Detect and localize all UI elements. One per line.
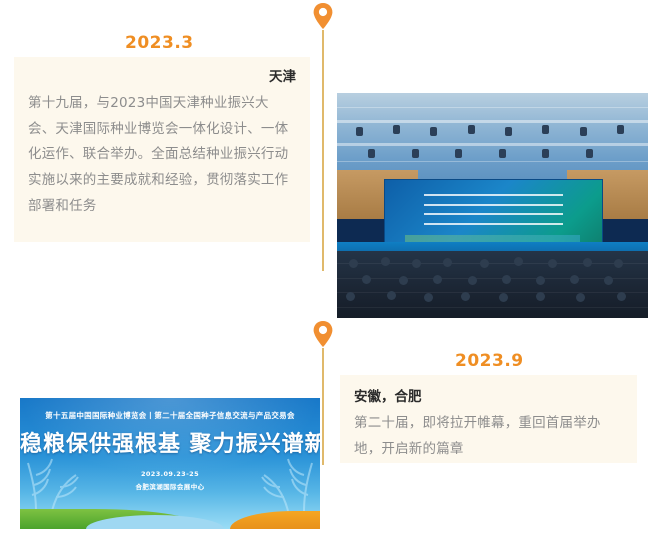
map-pin-icon	[312, 2, 334, 32]
photo-beam	[337, 120, 648, 123]
wheat-icon	[22, 449, 80, 511]
poster-header-text: 第十五届中国国际种业博览会丨第二十届全国种子信息交流与产品交易会	[20, 410, 320, 421]
photo-stage-light	[455, 149, 462, 158]
photo-stage-light	[505, 127, 512, 136]
entry-description: 第十九届，与2023中国天津种业振兴大会、天津国际种业博览会一体化设计、一体化运…	[28, 91, 296, 221]
entry-text-card: 天津 第十九届，与2023中国天津种业振兴大会、天津国际种业博览会一体化设计、一…	[14, 57, 310, 242]
photo-stage-light	[542, 125, 549, 134]
poster-date: 2023.09.23-25	[20, 470, 320, 478]
photo-stage-light	[368, 149, 375, 158]
map-pin-icon	[312, 320, 334, 350]
photo-truss	[337, 107, 648, 108]
photo-stage-light	[542, 149, 549, 158]
photo-truss	[337, 161, 648, 162]
photo-stage-light	[468, 125, 475, 134]
poster-venue: 合肥滨湖国际会展中心	[20, 481, 320, 491]
exhibition-poster: 第十五届中国国际种业博览会丨第二十届全国种子信息交流与产品交易会 稳粮保供强根基…	[20, 398, 320, 529]
entry-place-label: 天津	[28, 67, 296, 89]
timeline-entry-2023-9: 2023.9 安徽，合肥 第二十届，即将拉开帷幕，重回首届举办地，开启新的篇章	[0, 320, 650, 543]
photo-stage-light	[430, 127, 437, 136]
photo-beam	[337, 143, 648, 146]
photo-stage-light	[617, 125, 624, 134]
entry-place-label: 安徽，合肥	[354, 387, 621, 409]
entry-year-label: 2023.3	[125, 33, 194, 53]
conference-hall-photo	[337, 93, 648, 318]
poster-ground-orange	[230, 511, 320, 529]
photo-stage-light	[499, 149, 506, 158]
poster-title: 稳粮保供强根基 聚力振兴谱新篇	[20, 426, 320, 458]
photo-audience	[337, 251, 648, 319]
photo-stage-light	[580, 127, 587, 136]
photo-stage-light	[412, 149, 419, 158]
entry-text-card: 安徽，合肥 第二十届，即将拉开帷幕，重回首届举办地，开启新的篇章	[340, 375, 637, 463]
timeline-entry-2023-3: 2023.3 天津 第十九届，与2023中国天津种业振兴大会、天津国际种业博览会…	[0, 0, 650, 320]
timeline-container: 2023.3 天津 第十九届，与2023中国天津种业振兴大会、天津国际种业博览会…	[0, 0, 650, 543]
wheat-icon	[260, 449, 318, 511]
entry-year-label: 2023.9	[455, 351, 524, 371]
photo-stage-light	[393, 125, 400, 134]
photo-stage-light	[356, 127, 363, 136]
entry-description: 第二十届，即将拉开帷幕，重回首届举办地，开启新的篇章	[354, 411, 621, 463]
photo-stage-light	[586, 149, 593, 158]
